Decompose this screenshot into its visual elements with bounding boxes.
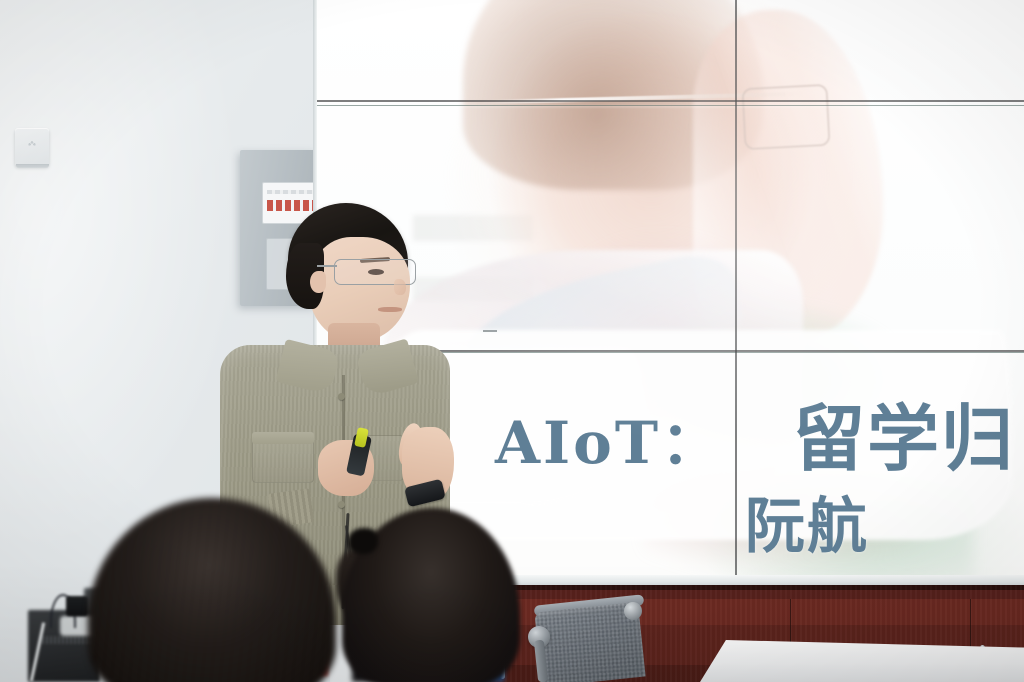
presenter-ear bbox=[310, 271, 326, 293]
panel-breaker-row-top bbox=[267, 190, 319, 194]
presenter-jacket-button bbox=[338, 393, 345, 400]
wall-socket-shadow bbox=[16, 164, 49, 168]
presenter-jacket-chest-pocket-left bbox=[252, 437, 314, 483]
presenter-glasses-bridge bbox=[483, 330, 497, 332]
photo-canvas: AIoT： 留学归 阮航 bbox=[0, 0, 1024, 682]
av-plug bbox=[66, 596, 88, 616]
presenter-mouth bbox=[378, 307, 402, 312]
presenter-jacket-button bbox=[338, 501, 345, 508]
video-wall-seam-horizontal-top bbox=[313, 105, 1024, 106]
presenter-nose bbox=[394, 279, 406, 295]
video-wall-seam-vertical bbox=[735, 0, 737, 587]
audience-right-hair-tie bbox=[348, 528, 378, 554]
chair-pivot-knob bbox=[624, 602, 642, 620]
slide-presenter-name: 阮航 bbox=[745, 478, 869, 565]
slide-title-latin: AIoT： bbox=[495, 396, 722, 480]
video-wall-seam-horizontal-top-dark bbox=[313, 100, 1024, 102]
slide-title-chinese: 留学归 bbox=[793, 380, 1015, 485]
slide-portrait-glasses-lens-icon bbox=[741, 84, 830, 150]
wall-power-socket bbox=[15, 128, 49, 166]
